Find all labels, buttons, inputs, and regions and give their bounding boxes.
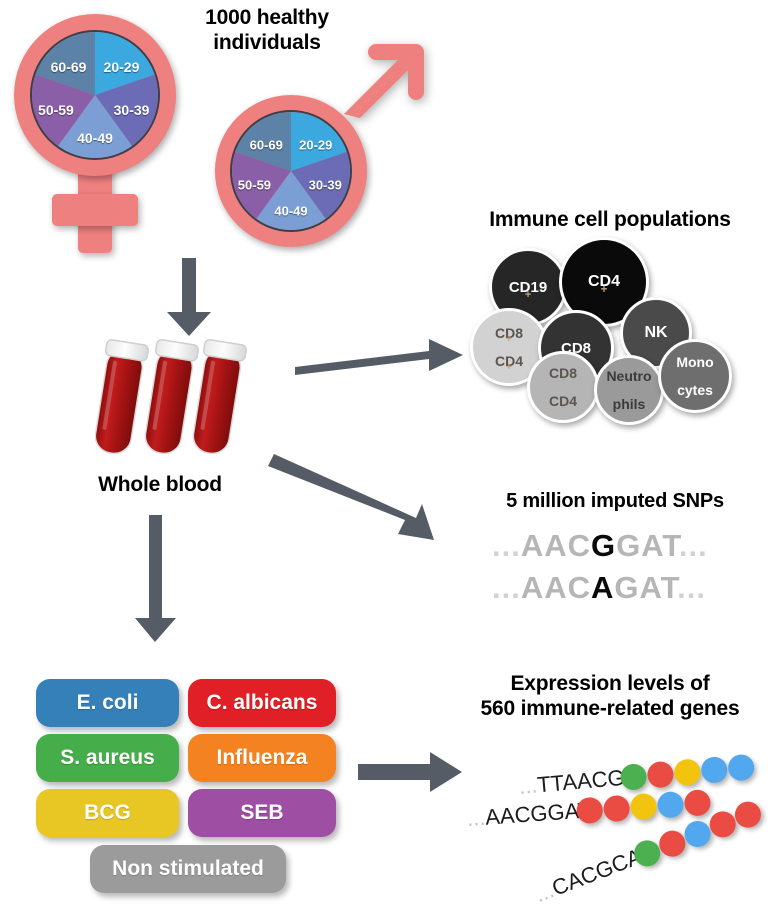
arrow-shape xyxy=(135,515,176,642)
rna-bead xyxy=(576,797,604,825)
rna-bead xyxy=(727,753,755,781)
stimulation-button-non-stimulated[interactable]: Non stimulated xyxy=(90,845,286,893)
arrow-blood-to-immune-cells xyxy=(295,325,470,380)
arrow-population-to-blood xyxy=(155,258,225,338)
stimulation-button-c-albicans[interactable]: C. albicans xyxy=(188,679,336,727)
expression-title-line1: Expression levels of xyxy=(455,672,765,697)
rna-bead xyxy=(646,761,674,789)
cell-cd8neg-cd4neg-label: CD8- CD4- xyxy=(549,366,577,408)
pie-slices xyxy=(32,32,158,158)
female-symbol-stem-horizontal xyxy=(52,194,138,226)
cell-monocytes-label: Mono cytes xyxy=(676,355,713,397)
arrow-shape xyxy=(167,258,211,336)
sample-label: Whole blood xyxy=(60,473,260,498)
rna-bead xyxy=(603,795,631,823)
stimulation-label: E. coli xyxy=(77,691,139,715)
cell-neutrophils: Neutro phils xyxy=(594,355,664,425)
blood-tube-1 xyxy=(95,339,149,456)
arrow-shape xyxy=(358,752,462,792)
age-pie-female-svg xyxy=(32,32,158,158)
cell-monocytes: Mono cytes xyxy=(658,339,732,413)
expression-title-line2: 560 immune-related genes xyxy=(455,697,765,722)
stimulation-label: Non stimulated xyxy=(112,857,264,881)
rna-bead xyxy=(657,791,685,819)
age-pie-male-svg xyxy=(232,112,350,230)
male-symbol: 20-29 30-39 40-49 50-59 60-69 xyxy=(205,20,435,255)
immune-cells-cluster: CD19+ CD4+ CD8+ CD4+ CD8+ NK CD8- CD4- N… xyxy=(470,245,770,420)
rna-bead xyxy=(673,758,701,786)
stimulation-button-influenza[interactable]: Influenza xyxy=(188,734,336,782)
stimulation-button-s-aureus[interactable]: S. aureus xyxy=(36,734,179,782)
cell-cd8pos-cd4pos-label: CD8+ CD4+ xyxy=(495,326,523,368)
arrow-blood-to-stimulation xyxy=(128,515,198,645)
rna-bead xyxy=(731,798,765,832)
stimulation-label: Influenza xyxy=(216,746,307,770)
blood-tube-2 xyxy=(140,339,199,456)
rna-bead xyxy=(630,793,658,821)
rna-strand-2-sequence: ...AACGGAT xyxy=(466,797,592,832)
stimulation-button-e-coli[interactable]: E. coli xyxy=(36,679,179,727)
age-pie-male: 20-29 30-39 40-49 50-59 60-69 xyxy=(230,110,352,232)
stimulation-label: C. albicans xyxy=(207,691,318,715)
arrow-shape xyxy=(295,339,463,375)
arrow-stimulation-to-expression xyxy=(358,750,468,795)
rna-bead xyxy=(700,756,728,784)
age-pie-female: 20-29 30-39 40-49 50-59 60-69 xyxy=(30,30,160,160)
snps-title: 5 million imputed SNPs xyxy=(470,490,760,514)
stimulation-label: S. aureus xyxy=(60,746,155,770)
cell-cd8neg-cd4neg: CD8- CD4- xyxy=(527,351,599,423)
stimulation-label: BCG xyxy=(84,801,131,825)
snp-sequence-2: ...AACAGAT... xyxy=(492,570,706,606)
stimulation-label: SEB xyxy=(240,801,283,825)
expression-title: Expression levels of 560 immune-related … xyxy=(455,672,765,722)
cell-nk-label: NK xyxy=(644,325,667,341)
immune-cells-title: Immune cell populations xyxy=(455,208,765,233)
cell-neutrophils-label: Neutro phils xyxy=(606,369,651,411)
stimulation-button-seb[interactable]: SEB xyxy=(188,789,336,837)
stimulation-button-bcg[interactable]: BCG xyxy=(36,789,179,837)
cell-cd4-label: CD4+ xyxy=(588,274,620,290)
cell-cd19-label: CD19+ xyxy=(509,280,547,295)
snp-sequence-1: ...AACGGAT... xyxy=(492,528,708,564)
arrow-shape xyxy=(268,454,434,540)
male-arrow-path xyxy=(344,44,424,118)
rna-bead xyxy=(684,789,712,817)
pie-slices xyxy=(232,112,350,230)
arrow-blood-to-snps xyxy=(248,440,458,555)
